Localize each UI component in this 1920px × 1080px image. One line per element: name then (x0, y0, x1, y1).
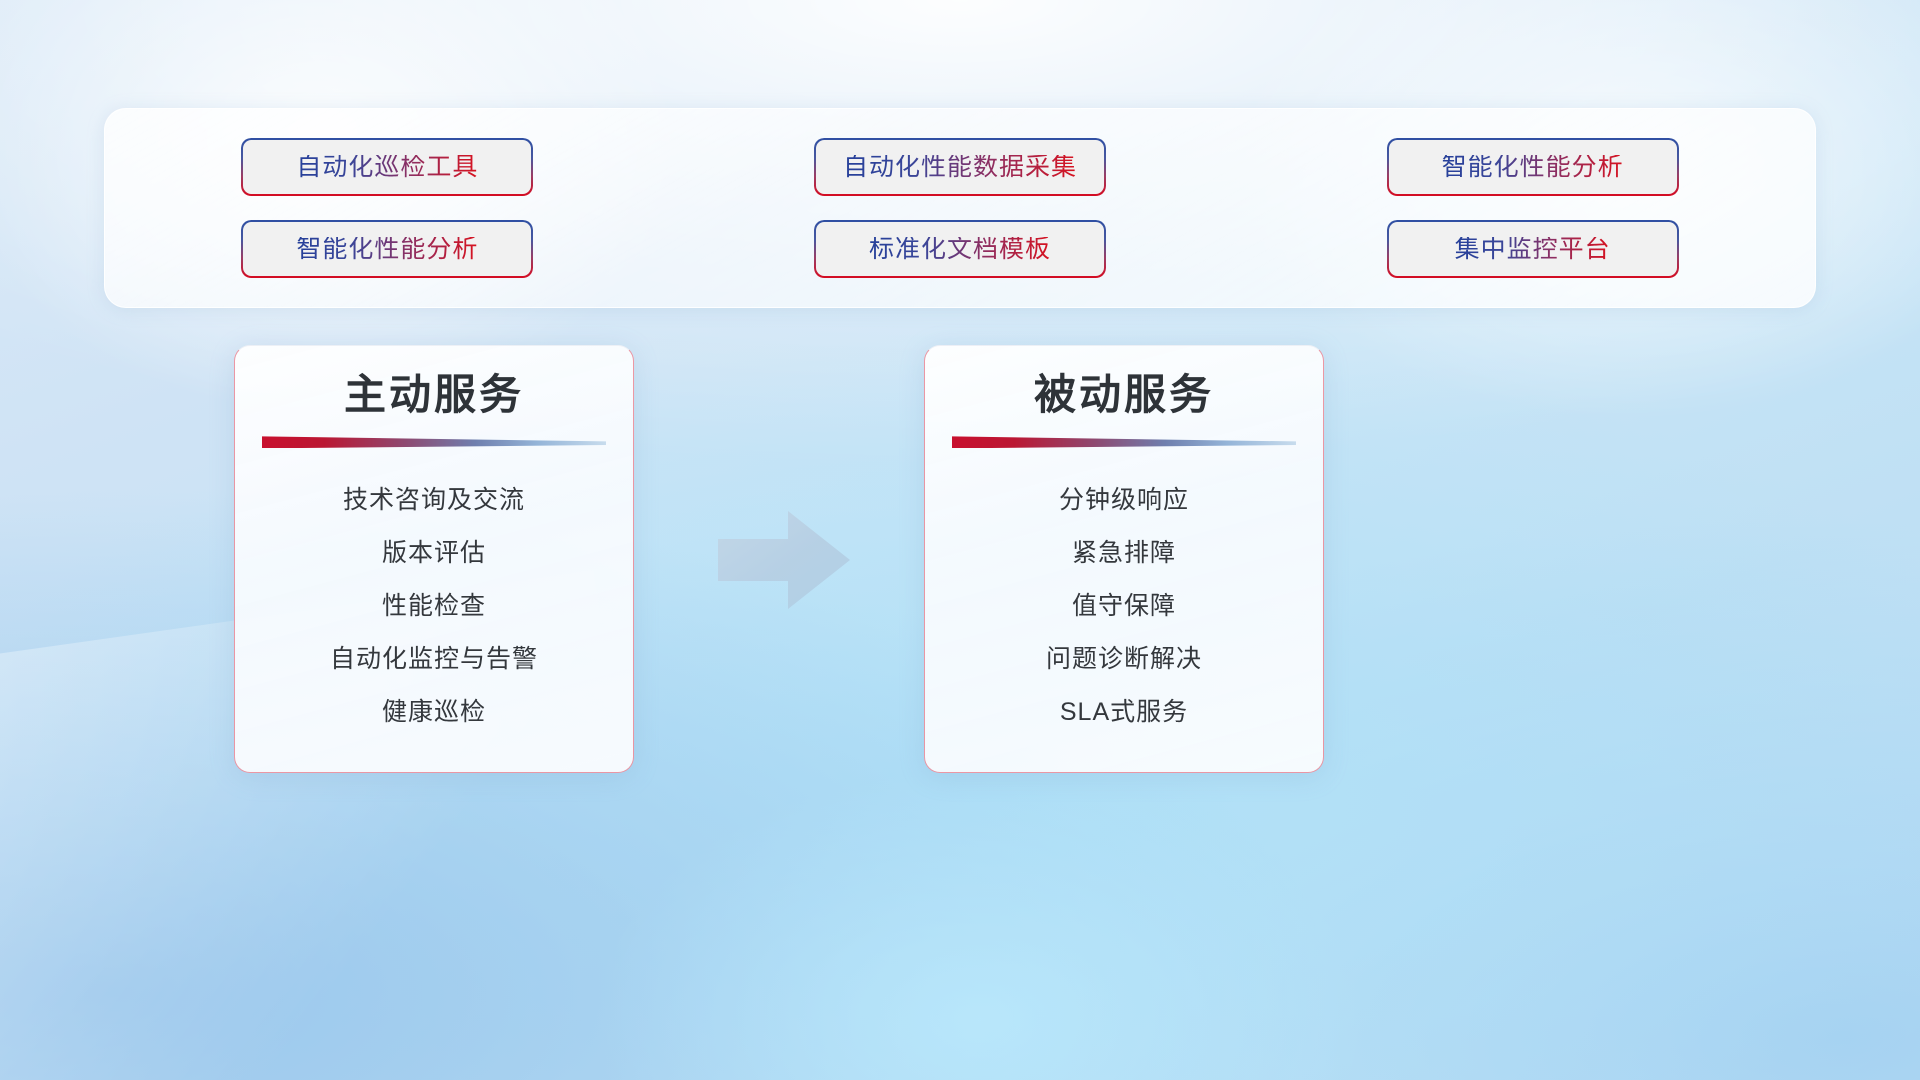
card-divider-bar (262, 436, 606, 448)
capability-tag-label: 自动化性能数据采集 (843, 155, 1077, 180)
service-list-item: 健康巡检 (235, 686, 633, 739)
capability-tag-label: 集中监控平台 (1455, 237, 1611, 262)
capability-tag[interactable]: 自动化巡检工具 (241, 138, 533, 196)
capability-tag[interactable]: 智能化性能分析 (241, 220, 533, 278)
card-divider (952, 436, 1296, 448)
service-list-item: 紧急排障 (925, 527, 1323, 580)
card-title: 主动服务 (235, 346, 633, 420)
capability-tag[interactable]: 自动化性能数据采集 (814, 138, 1106, 196)
service-list-item: SLA式服务 (925, 686, 1323, 739)
service-card-proactive: 主动服务 技术咨询及交流 版本评估 性能检查 自动化监控与告警 健康巡检 (234, 345, 634, 773)
capability-tag[interactable]: 标准化文档模板 (814, 220, 1106, 278)
service-list-item: 值守保障 (925, 580, 1323, 633)
service-list-item: 版本评估 (235, 527, 633, 580)
service-card-reactive: 被动服务 分钟级响应 紧急排障 值守保障 问题诊断解决 SLA式服务 (924, 345, 1324, 773)
service-list-item: 问题诊断解决 (925, 633, 1323, 686)
service-item-list: 分钟级响应 紧急排障 值守保障 问题诊断解决 SLA式服务 (925, 448, 1323, 739)
slide-canvas: 自动化巡检工具 自动化性能数据采集 智能化性能分析 智能化性能分析 标准化文档模… (0, 0, 1920, 1080)
capability-tag-panel: 自动化巡检工具 自动化性能数据采集 智能化性能分析 智能化性能分析 标准化文档模… (104, 108, 1816, 308)
capability-tag-label: 智能化性能分析 (1442, 155, 1624, 180)
card-divider (262, 436, 606, 448)
capability-tag-grid: 自动化巡检工具 自动化性能数据采集 智能化性能分析 智能化性能分析 标准化文档模… (105, 109, 1815, 307)
service-list-item: 技术咨询及交流 (235, 474, 633, 527)
service-list-item: 自动化监控与告警 (235, 633, 633, 686)
capability-tag-label: 标准化文档模板 (869, 237, 1051, 262)
flow-arrow-right-icon (714, 505, 854, 615)
capability-tag-label: 自动化巡检工具 (296, 155, 478, 180)
service-list-item: 分钟级响应 (925, 474, 1323, 527)
capability-tag-label: 智能化性能分析 (296, 237, 478, 262)
service-item-list: 技术咨询及交流 版本评估 性能检查 自动化监控与告警 健康巡检 (235, 448, 633, 739)
capability-tag[interactable]: 集中监控平台 (1387, 220, 1679, 278)
card-title: 被动服务 (925, 346, 1323, 420)
capability-tag[interactable]: 智能化性能分析 (1387, 138, 1679, 196)
card-divider-bar (952, 436, 1296, 448)
service-list-item: 性能检查 (235, 580, 633, 633)
